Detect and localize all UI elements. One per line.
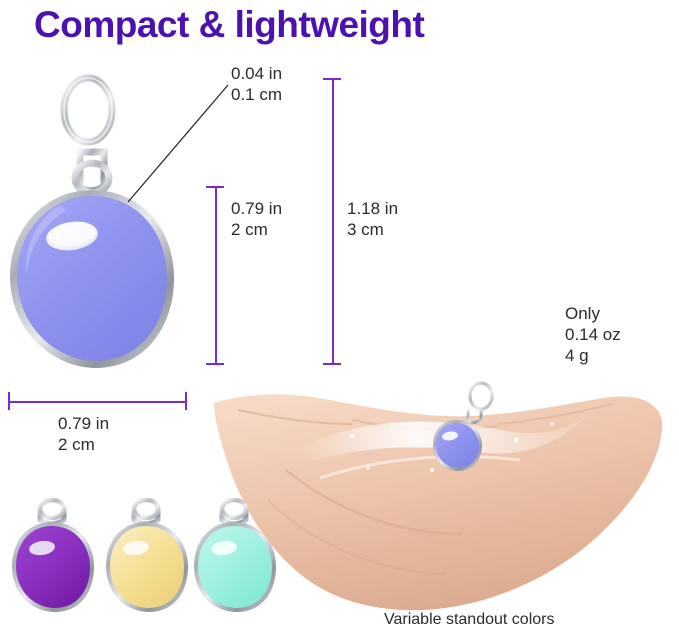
body-height-tick-bottom — [206, 363, 224, 365]
color-swatch-tags — [12, 500, 276, 612]
width-tick-right — [185, 392, 187, 410]
swatch-tag-mint — [194, 500, 276, 612]
swatch-tag-yellow — [106, 500, 188, 612]
body-height-tick-top — [206, 186, 224, 188]
total-height-tick-bottom — [323, 363, 341, 365]
main-product-tag — [10, 78, 174, 368]
body-height-value-in: 0.79 in — [231, 199, 282, 218]
total-height-value-in: 1.18 in — [347, 199, 398, 218]
width-tick-left — [8, 392, 10, 410]
thickness-value-cm: 0.1 cm — [231, 85, 282, 104]
body-height-label: 0.79 in 2 cm — [231, 198, 282, 240]
thickness-value-in: 0.04 in — [231, 64, 282, 83]
weight-value-oz: 0.14 oz — [565, 325, 621, 344]
width-label: 0.79 in 2 cm — [58, 413, 109, 455]
thickness-label: 0.04 in 0.1 cm — [231, 63, 282, 105]
width-value-cm: 2 cm — [58, 435, 95, 454]
weight-value-g: 4 g — [565, 346, 589, 365]
hand-product-tag — [433, 383, 492, 471]
body-height-rule — [215, 186, 217, 364]
thickness-leader-line — [128, 85, 228, 202]
total-height-rule — [332, 78, 334, 364]
colors-caption: Variable standout colors — [384, 611, 554, 629]
hand-illustration — [214, 383, 662, 610]
width-rule — [8, 401, 186, 403]
weight-prefix: Only — [565, 304, 600, 323]
swatch-tag-purple — [12, 500, 94, 612]
total-height-value-cm: 3 cm — [347, 220, 384, 239]
weight-label: Only 0.14 oz 4 g — [565, 303, 621, 366]
product-infographic: Compact & lightweight — [0, 0, 679, 634]
total-height-label: 1.18 in 3 cm — [347, 198, 398, 240]
width-value-in: 0.79 in — [58, 414, 109, 433]
body-height-value-cm: 2 cm — [231, 220, 268, 239]
page-title: Compact & lightweight — [34, 4, 424, 46]
total-height-tick-top — [323, 78, 341, 80]
